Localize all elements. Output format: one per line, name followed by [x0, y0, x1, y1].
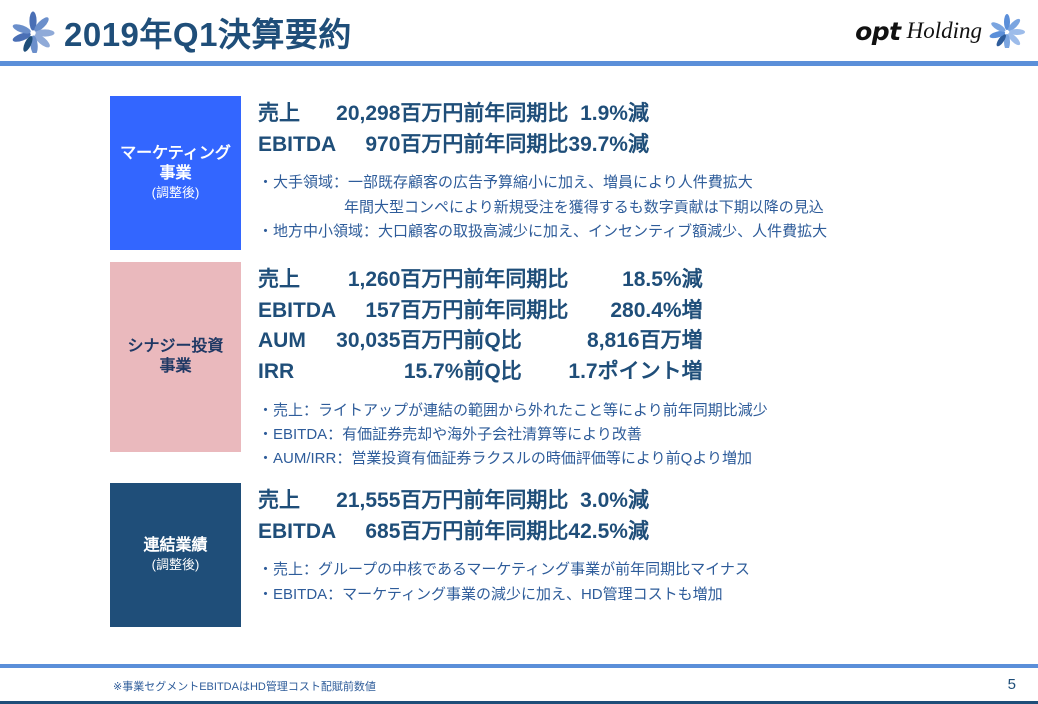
metric-row: EBITDA 970百万円 前年同期比 39.7%減: [258, 131, 649, 162]
bullet-item: ・EBITDA：有価証券売却や海外子会社清算等により改善: [258, 423, 768, 447]
metrics-table-synergy: 売上 1,260百万円 前年同期比 18.5%減 EBITDA 157百万円 前…: [258, 266, 703, 389]
section-body-consolidated: 売上 21,555百万円 前年同期比 3.0%減 EBITDA 685百万円 前…: [258, 483, 750, 607]
metric-comparison: 前年同期比: [463, 518, 568, 549]
section-label-synergy: シナジー投資 事業: [110, 262, 241, 452]
metric-name: 売上: [258, 100, 336, 131]
metric-name: EBITDA: [258, 297, 336, 328]
bullet-list-synergy: ・売上：ライトアップが連結の範囲から外れたこと等により前年同期比減少 ・EBIT…: [258, 399, 768, 472]
footnote: ※事業セグメントEBITDAはHD管理コスト配賦前数値: [113, 678, 376, 694]
metrics-table-consolidated: 売上 21,555百万円 前年同期比 3.0%減 EBITDA 685百万円 前…: [258, 487, 649, 548]
metric-name: IRR: [258, 358, 336, 389]
page-title: 2019年Q1決算要約: [64, 8, 352, 56]
flower-starburst-icon: [10, 11, 56, 53]
section-label-line1: 連結業績: [143, 536, 207, 556]
metric-row: IRR 15.7% 前Q比 1.7ポイント増: [258, 358, 703, 389]
section-marketing: マーケティング 事業 (調整後) 売上 20,298百万円 前年同期比 1.9%…: [110, 96, 827, 250]
section-label-marketing: マーケティング 事業 (調整後): [110, 96, 241, 250]
metric-row: 売上 21,555百万円 前年同期比 3.0%減: [258, 487, 649, 518]
metric-comparison: 前Q比: [463, 327, 568, 358]
header-divider: [0, 61, 1038, 66]
bullet-item: ・大手領域：一部既存顧客の広告予算縮小に加え、増員により人件費拡大: [258, 171, 827, 195]
slide-header: 2019年Q1決算要約 opt Holding: [0, 0, 1038, 60]
section-label-sub: (調整後): [152, 185, 200, 202]
metric-comparison: 前年同期比: [463, 487, 568, 518]
metric-value: 21,555百万円: [336, 487, 463, 518]
section-label-consolidated: 連結業績 (調整後): [110, 483, 241, 627]
page-number: 5: [1008, 676, 1016, 693]
section-synergy: シナジー投資 事業 売上 1,260百万円 前年同期比 18.5%減 EBITD…: [110, 262, 768, 472]
metric-row: EBITDA 157百万円 前年同期比 280.4%増: [258, 297, 703, 328]
bullet-item: 年間大型コンペにより新規受注を獲得するも数字貢献は下期以降の見込: [258, 196, 827, 220]
metric-delta: 1.7ポイント増: [568, 358, 702, 389]
metric-value: 1,260百万円: [336, 266, 463, 297]
metric-delta: 8,816百万増: [568, 327, 702, 358]
metric-value: 970百万円: [336, 131, 463, 162]
metric-value: 15.7%: [336, 358, 463, 389]
section-label-line2: 事業: [127, 357, 223, 377]
footer-divider: [0, 664, 1038, 668]
metric-comparison: 前年同期比: [463, 266, 568, 297]
metric-delta: 3.0%減: [568, 487, 649, 518]
metric-row: 売上 20,298百万円 前年同期比 1.9%減: [258, 100, 649, 131]
metric-delta: 18.5%減: [568, 266, 702, 297]
bullet-list-consolidated: ・売上：グループの中核であるマーケティング事業が前年同期比マイナス ・EBITD…: [258, 558, 750, 607]
metric-row: AUM 30,035百万円 前Q比 8,816百万増: [258, 327, 703, 358]
section-consolidated: 連結業績 (調整後) 売上 21,555百万円 前年同期比 3.0%減 EBIT…: [110, 483, 750, 627]
section-label-sub: (調整後): [152, 557, 200, 574]
metric-name: EBITDA: [258, 518, 336, 549]
metric-name: AUM: [258, 327, 336, 358]
metric-comparison: 前年同期比: [463, 297, 568, 328]
section-label-line1: マーケティング: [120, 144, 231, 164]
bullet-item: ・AUM/IRR：営業投資有価証券ラクスルの時価評価等により前Qより増加: [258, 447, 768, 471]
metric-delta: 1.9%減: [568, 100, 649, 131]
section-label-line2: 事業: [120, 164, 231, 184]
bullet-item: ・売上：グループの中核であるマーケティング事業が前年同期比マイナス: [258, 558, 750, 582]
bullet-list-marketing: ・大手領域：一部既存顧客の広告予算縮小に加え、増員により人件費拡大 年間大型コン…: [258, 171, 827, 244]
metric-comparison: 前年同期比: [463, 131, 568, 162]
bullet-item: ・EBITDA：マーケティング事業の減少に加え、HD管理コストも増加: [258, 583, 750, 607]
section-body-marketing: 売上 20,298百万円 前年同期比 1.9%減 EBITDA 970百万円 前…: [258, 96, 827, 244]
brand-logo: opt Holding: [855, 14, 1026, 48]
metric-value: 685百万円: [336, 518, 463, 549]
metric-name: 売上: [258, 487, 336, 518]
brand-name: opt: [855, 17, 901, 46]
metric-comparison: 前年同期比: [463, 100, 568, 131]
metric-row: 売上 1,260百万円 前年同期比 18.5%減: [258, 266, 703, 297]
metric-name: 売上: [258, 266, 336, 297]
bullet-item: ・地方中小領域：大口顧客の取扱高減少に加え、インセンティブ額減少、人件費拡大: [258, 220, 827, 244]
metric-delta: 280.4%増: [568, 297, 702, 328]
section-body-synergy: 売上 1,260百万円 前年同期比 18.5%減 EBITDA 157百万円 前…: [258, 262, 768, 472]
metric-value: 20,298百万円: [336, 100, 463, 131]
metrics-table-marketing: 売上 20,298百万円 前年同期比 1.9%減 EBITDA 970百万円 前…: [258, 100, 649, 161]
metric-value: 157百万円: [336, 297, 463, 328]
metric-row: EBITDA 685百万円 前年同期比 42.5%減: [258, 518, 649, 549]
brand-suffix: Holding: [907, 18, 982, 44]
bullet-item: ・売上：ライトアップが連結の範囲から外れたこと等により前年同期比減少: [258, 399, 768, 423]
metric-value: 30,035百万円: [336, 327, 463, 358]
section-label-line1: シナジー投資: [127, 337, 223, 357]
metric-delta: 42.5%減: [568, 518, 649, 549]
metric-delta: 39.7%減: [568, 131, 649, 162]
metric-comparison: 前Q比: [463, 358, 568, 389]
flower-starburst-icon: [988, 14, 1026, 48]
metric-name: EBITDA: [258, 131, 336, 162]
